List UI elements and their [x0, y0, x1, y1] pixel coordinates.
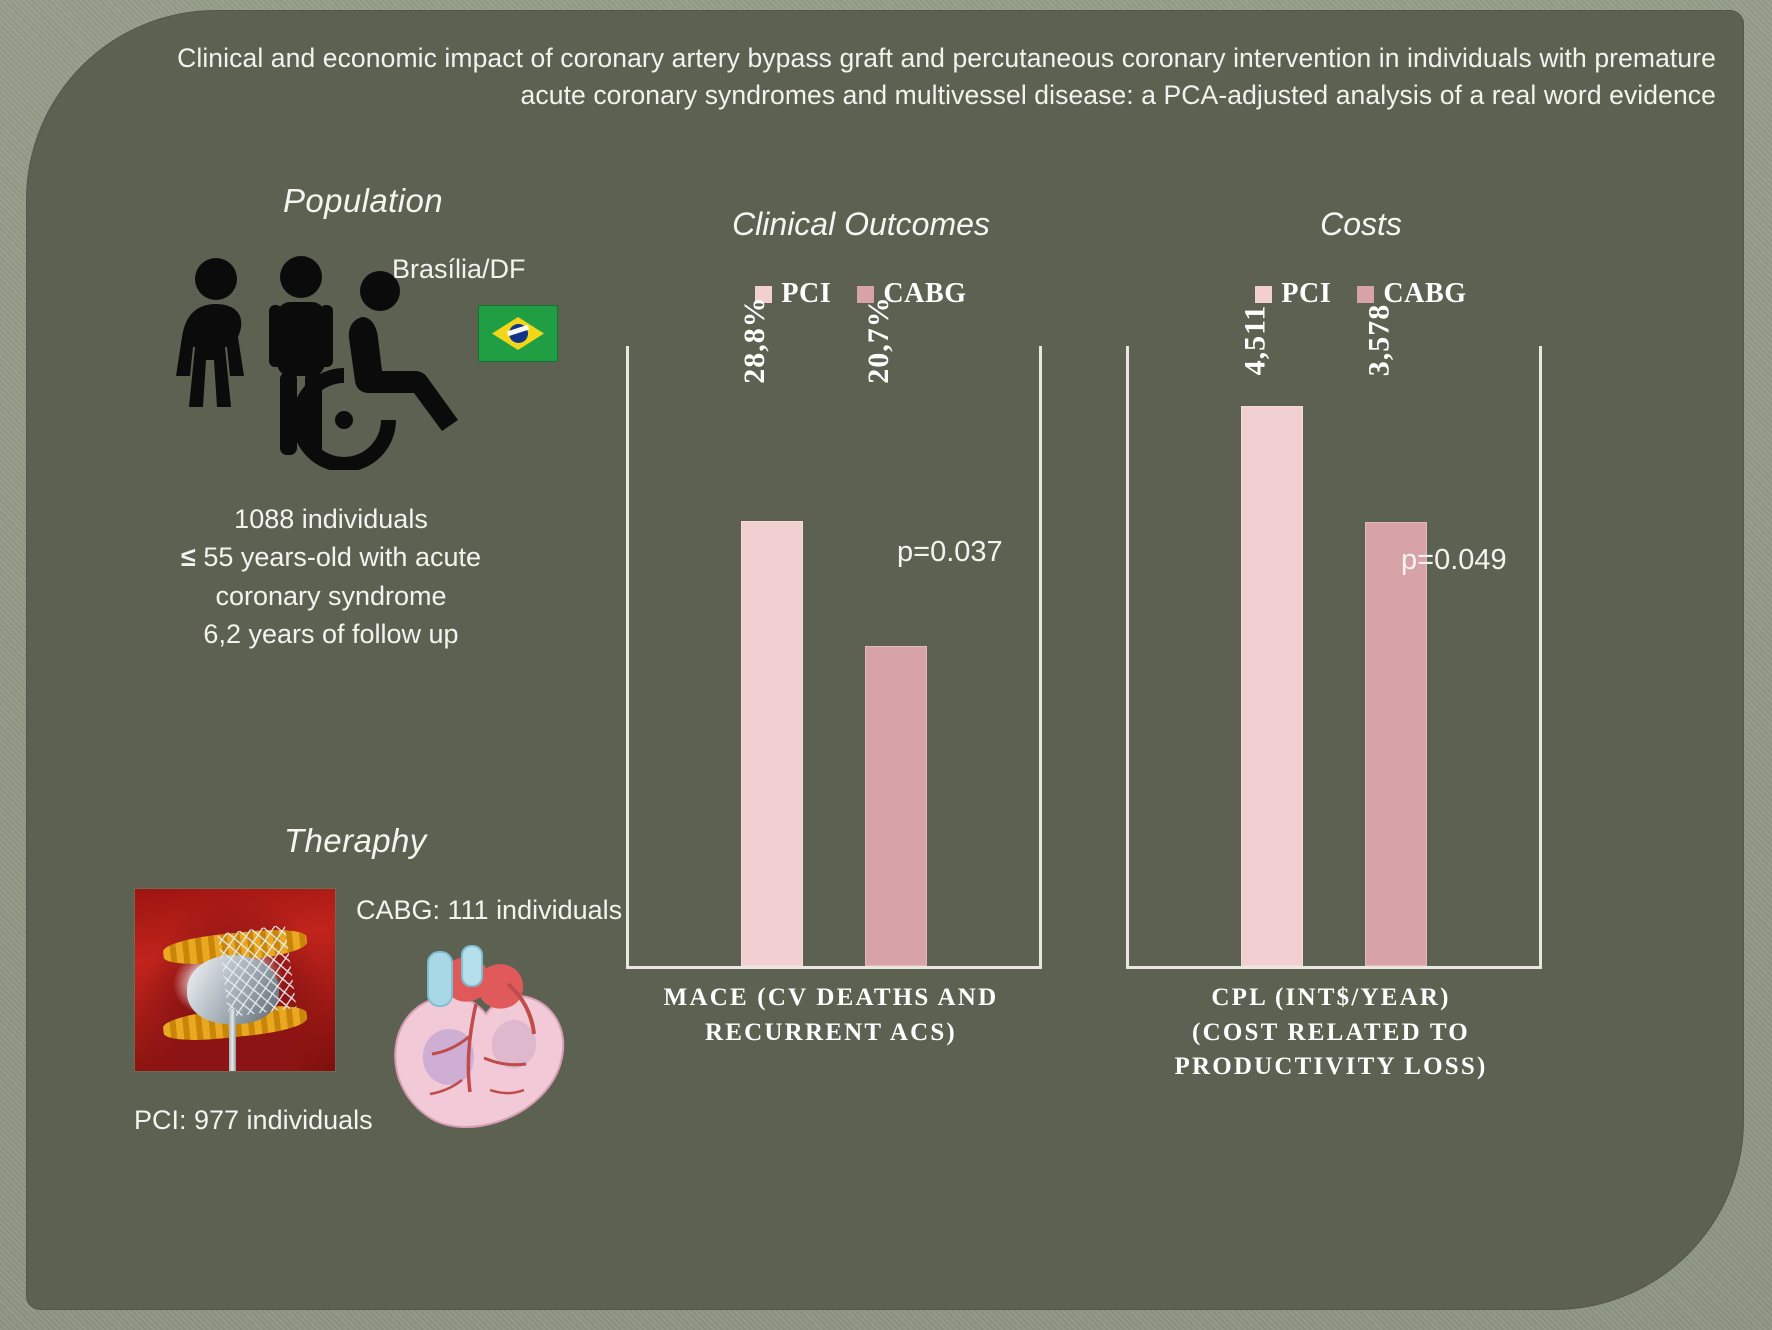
- bar-group-pci-costs: 4,511: [1241, 346, 1303, 966]
- therapy-heading: Theraphy: [284, 822, 427, 860]
- costs-axis-caption-line2: (COST RELATED TO: [1096, 1016, 1566, 1051]
- clinical-axis-caption-line1: MACE (CV DEATHS AND: [596, 981, 1066, 1016]
- bar-group-pci: 28,8%: [741, 346, 803, 966]
- legend-label-pci: PCI: [781, 278, 831, 310]
- costs-plot-area: 4,511 3,578 p=0.049: [1126, 346, 1542, 969]
- bar-cabg-costs: [1365, 522, 1427, 966]
- stent-catheter: [229, 1009, 236, 1071]
- population-age: ≤ 55 years-old with acute: [146, 538, 516, 576]
- population-count: 1088 individuals: [146, 500, 516, 538]
- cabg-count-label: CABG: 111 individuals: [356, 895, 622, 926]
- population-condition: coronary syndrome: [146, 577, 516, 615]
- pci-count-label: PCI: 977 individuals: [134, 1105, 373, 1136]
- graphical-abstract-root: Clinical and economic impact of coronary…: [0, 0, 1772, 1330]
- clinical-outcomes-chart: Clinical Outcomes PCI CABG 28,8%: [626, 206, 1096, 1206]
- costs-axis-caption: CPL (INT$/YEAR) (COST RELATED TO PRODUCT…: [1096, 981, 1566, 1085]
- coronary-stent-illustration: [134, 888, 336, 1072]
- stent-mesh: [218, 925, 297, 1017]
- costs-axis-caption-line3: PRODUCTIVITY LOSS): [1096, 1050, 1566, 1085]
- population-followup: 6,2 years of follow up: [146, 615, 516, 653]
- bar-group-cabg: 20,7%: [865, 346, 927, 966]
- clinical-chart-title: Clinical Outcomes: [626, 206, 1096, 243]
- population-details: 1088 individuals ≤ 55 years-old with acu…: [146, 500, 516, 653]
- population-heading: Population: [283, 182, 443, 220]
- bar-group-cabg-costs: 3,578: [1365, 346, 1427, 966]
- costs-chart-title: Costs: [1126, 206, 1596, 243]
- clinical-bars: 28,8% 20,7%: [629, 346, 1039, 966]
- clinical-axis-caption: MACE (CV DEATHS AND RECURRENT ACS): [596, 981, 1066, 1050]
- people-pictogram-icon: [166, 255, 516, 470]
- costs-chart: Costs PCI CABG 4,511: [1126, 206, 1596, 1206]
- costs-chart-legend: PCI CABG: [1126, 278, 1596, 310]
- clinical-axis-caption-line2: RECURRENT ACS): [596, 1016, 1066, 1051]
- legend-label-cabg: CABG: [883, 278, 966, 310]
- bar-cabg: [865, 646, 927, 966]
- costs-bars: 4,511 3,578: [1129, 346, 1539, 966]
- costs-axis-caption-line1: CPL (INT$/YEAR): [1096, 981, 1566, 1016]
- legend-swatch-cabg-costs: [1357, 286, 1374, 303]
- population-age-text: 55 years-old with acute: [203, 542, 481, 572]
- heart-anatomy-illustration: [366, 940, 586, 1150]
- bar-pci-costs: [1241, 406, 1303, 966]
- legend-swatch-pci-costs: [1255, 286, 1272, 303]
- clinical-plot-area: 28,8% 20,7% p=0.037: [626, 346, 1042, 969]
- legend-label-pci-costs: PCI: [1281, 278, 1331, 310]
- bar-pci: [741, 521, 803, 966]
- less-equal-sign: ≤: [181, 542, 196, 572]
- costs-p-value: p=0.049: [1401, 544, 1507, 577]
- poster-panel: Clinical and economic impact of coronary…: [26, 10, 1744, 1310]
- clinical-p-value: p=0.037: [897, 536, 1003, 569]
- page-title: Clinical and economic impact of coronary…: [136, 40, 1716, 113]
